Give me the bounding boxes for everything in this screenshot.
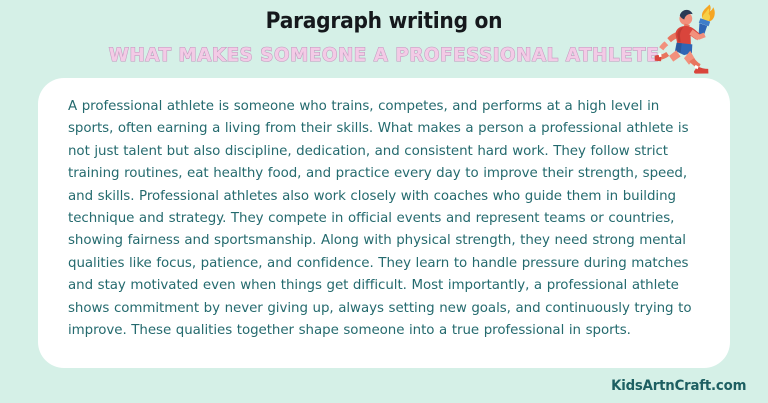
brand-watermark: KidsArtnCraft.com (611, 378, 746, 394)
poster-root: Paragraph writing on WHAT MAKES SOMEONE … (0, 0, 768, 403)
page-title: Paragraph writing on (31, 9, 738, 34)
poster-header: Paragraph writing on WHAT MAKES SOMEONE … (0, 0, 768, 78)
torch-runner-illustration (654, 2, 738, 76)
page-subtitle: WHAT MAKES SOMEONE A PROFESSIONAL ATHLET… (15, 44, 752, 66)
paragraph-body: A professional athlete is someone who tr… (68, 96, 700, 342)
paragraph-card: A professional athlete is someone who tr… (38, 78, 730, 368)
